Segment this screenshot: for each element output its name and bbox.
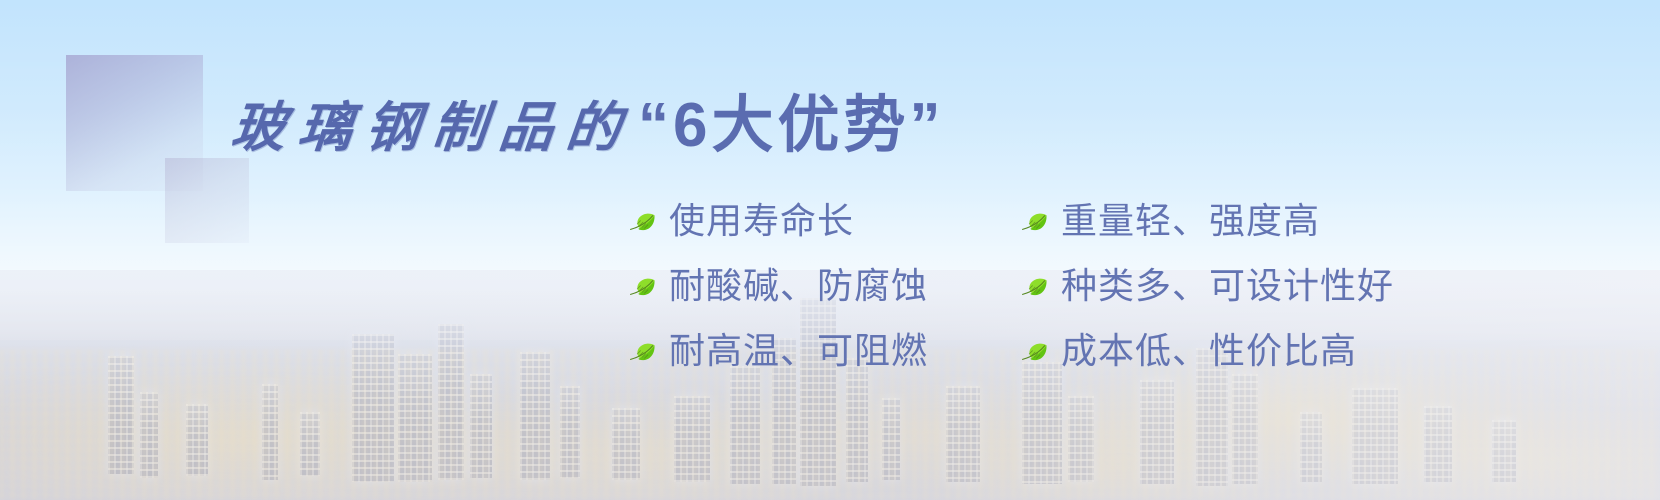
advantage-item: 重量轻、强度高 (1022, 188, 1394, 253)
advantage-item: 耐高温、可阻燃 (630, 318, 1000, 383)
advantage-label: 重量轻、强度高 (1061, 203, 1320, 239)
advantage-label: 使用寿命长 (669, 203, 854, 239)
headline-script-text: 玻璃钢制品的 (228, 83, 638, 162)
advantages-list: 使用寿命长 重量轻、强度高 (630, 188, 1394, 383)
headline-emphasis-text: “6大优势” (638, 74, 944, 164)
decorative-square-small (165, 158, 249, 243)
banner-headline: 玻璃钢制品的 “6大优势” (232, 74, 944, 164)
leaf-icon (1022, 277, 1048, 299)
advantage-label: 种类多、可设计性好 (1061, 268, 1394, 304)
leaf-icon (1022, 342, 1048, 364)
advantage-label: 耐酸碱、防腐蚀 (669, 268, 928, 304)
advantage-item: 种类多、可设计性好 (1022, 253, 1394, 318)
leaf-icon (630, 212, 656, 234)
promo-banner: 玻璃钢制品的 “6大优势” 使用寿命长 (0, 0, 1660, 500)
leaf-icon (630, 277, 656, 299)
advantage-label: 成本低、性价比高 (1061, 333, 1357, 369)
advantage-label: 耐高温、可阻燃 (669, 333, 928, 369)
advantage-item: 成本低、性价比高 (1022, 318, 1394, 383)
advantage-item: 使用寿命长 (630, 188, 1000, 253)
leaf-icon (630, 342, 656, 364)
leaf-icon (1022, 212, 1048, 234)
advantage-item: 耐酸碱、防腐蚀 (630, 253, 1000, 318)
